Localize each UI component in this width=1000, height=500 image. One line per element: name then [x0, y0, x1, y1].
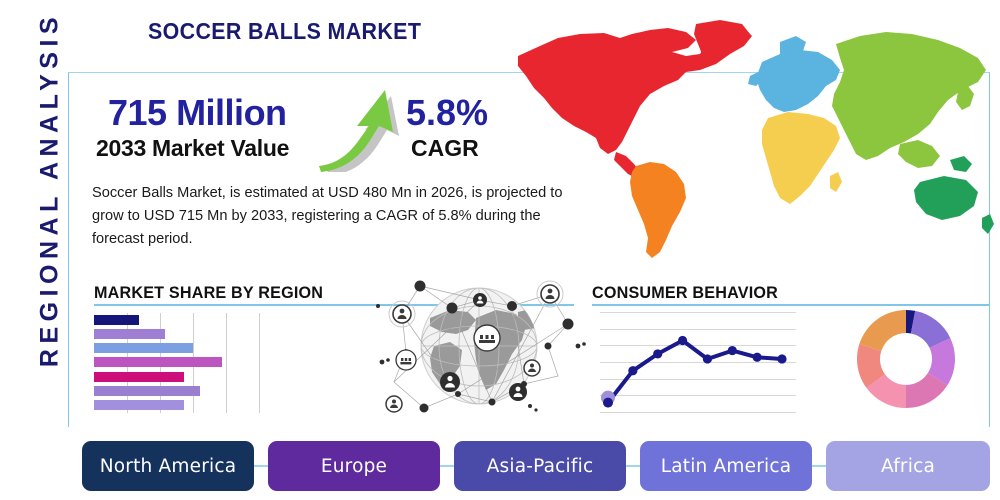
region-tabs: North AmericaEuropeAsia-PacificLatin Ame… — [82, 441, 990, 491]
market-value-label: 2033 Market Value — [96, 135, 289, 162]
bar-chart-gridline-3 — [226, 313, 227, 413]
region-tab-africa[interactable]: Africa — [826, 441, 990, 491]
line-chart-marker — [703, 354, 712, 363]
market-share-heading: MARKET SHARE BY REGION — [94, 283, 323, 303]
infographic-root: REGIONAL ANALYSIS SOCCER BALLS MARKET — [0, 0, 1000, 500]
region-tab-asia-pacific[interactable]: Asia-Pacific — [454, 441, 626, 491]
bar-fill — [94, 400, 184, 410]
line-chart-marker — [603, 398, 613, 408]
consumer-behavior-heading-rule — [592, 304, 990, 306]
market-share-bar-chart — [94, 313, 289, 413]
bar-chart-gridline-4 — [259, 313, 260, 413]
bar-fill — [94, 386, 200, 396]
line-chart-marker — [753, 353, 762, 362]
donut-segment — [859, 310, 906, 351]
cagr-label: CAGR — [411, 135, 479, 162]
cagr-figure: 5.8% — [406, 92, 488, 134]
map-region-madagascar — [830, 172, 842, 192]
consumer-behavior-heading: CONSUMER BEHAVIOR — [592, 283, 778, 303]
regional-distribution-donut-chart — [855, 308, 957, 410]
map-region-africa — [762, 112, 840, 204]
line-chart-series — [600, 312, 796, 412]
growth-arrow-icon — [309, 84, 399, 172]
line-chart-marker — [678, 336, 687, 345]
bar-chart-bar — [94, 400, 184, 410]
market-value-figure: 715 Million — [108, 92, 287, 134]
tab-connector — [626, 465, 640, 467]
bar-fill — [94, 343, 193, 353]
map-region-png — [950, 156, 972, 172]
map-region-australia — [914, 176, 978, 220]
bar-chart-bar — [94, 343, 193, 353]
map-region-south-america — [630, 162, 686, 258]
bar-chart-bar — [94, 386, 200, 396]
consumer-behavior-line-chart — [600, 312, 796, 412]
side-label-regional-analysis: REGIONAL ANALYSIS — [36, 0, 65, 390]
line-chart-marker — [653, 349, 662, 358]
region-tab-north-america[interactable]: North America — [82, 441, 254, 491]
line-chart-marker — [777, 354, 786, 363]
bar-fill — [94, 357, 222, 367]
tab-connector — [440, 465, 454, 467]
region-tab-latin-america[interactable]: Latin America — [640, 441, 812, 491]
line-chart-marker — [728, 346, 737, 355]
map-region-se-asia — [898, 140, 940, 168]
map-region-greenland — [694, 20, 750, 58]
bar-fill — [94, 329, 165, 339]
region-tab-europe[interactable]: Europe — [268, 441, 440, 491]
global-network-globe-icon — [372, 272, 587, 420]
page-title: SOCCER BALLS MARKET — [148, 18, 421, 45]
map-region-europe — [756, 50, 840, 112]
map-region-new-zealand — [982, 214, 994, 234]
line-chart-gridline-6 — [600, 412, 796, 413]
bar-chart-bar — [94, 315, 139, 325]
tab-connector — [812, 465, 826, 467]
bar-fill — [94, 315, 139, 325]
description-text: Soccer Balls Market, is estimated at USD… — [92, 182, 592, 251]
bar-chart-bar — [94, 329, 165, 339]
kpi-row: 715 Million 2033 Market Value 5.8% CAGR — [96, 92, 516, 172]
bar-fill — [94, 372, 184, 382]
bar-chart-bar — [94, 372, 184, 382]
tab-connector — [254, 465, 268, 467]
line-chart-marker — [628, 366, 637, 375]
bar-chart-bar — [94, 357, 222, 367]
